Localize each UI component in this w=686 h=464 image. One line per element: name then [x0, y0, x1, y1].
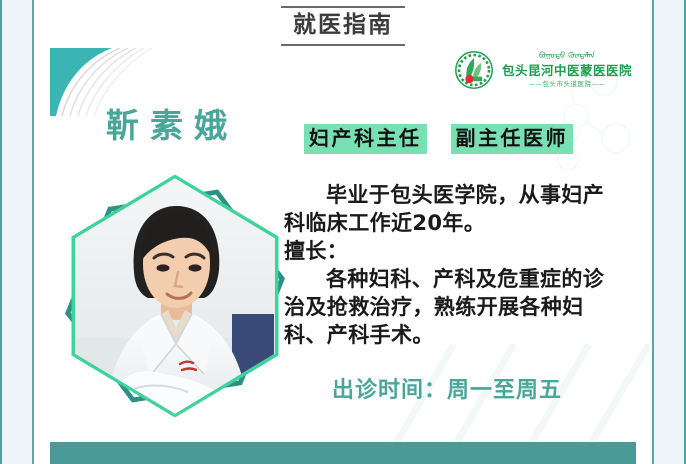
title-badge-department: 妇产科主任 — [304, 124, 427, 154]
bottom-accent-bar — [50, 442, 636, 464]
doctor-profile-card: 就医指南 — [0, 0, 686, 464]
office-hours: 出诊时间：周一至周五 — [332, 372, 562, 404]
bio-paragraph-specialty: 各种妇科、产科及危重症的诊治及抢救治疗，熟练开展各种妇科、产科手术。 — [284, 266, 620, 350]
mongolian-script-text: ᠪᠤᠭᠤᠲᠤ ᠬᠦᠨᠳᠡᠯᠡᠨ — [539, 52, 595, 63]
leaf-circle-emblem-icon — [454, 50, 494, 90]
right-border-gutter — [652, 0, 684, 464]
hexagon-front-outline — [60, 172, 290, 420]
doctor-bio: 毕业于包头医学院，从事妇产科临床工作近20年。 擅长： 各种妇科、产科及危重症的… — [284, 182, 620, 350]
doctor-titles: 妇产科主任 副主任医师 — [304, 124, 573, 154]
bio-label-specialty: 擅长： — [284, 238, 620, 266]
doctor-photo-frame — [60, 172, 290, 420]
hospital-subtitle-text: ——包头市头道医院—— — [529, 78, 606, 88]
title-rule-bottom — [281, 44, 405, 46]
page-title: 就医指南 — [287, 8, 399, 44]
hospital-name-text: 包头昆河中医蒙医医院 — [502, 64, 632, 78]
header: 就医指南 — [2, 6, 684, 46]
hospital-logo: ᠪᠤᠭᠤᠲᠤ ᠬᠦᠨᠳᠡᠯᠡᠨ 包头昆河中医蒙医医院 ——包头市头道医院—— — [454, 50, 632, 90]
doctor-photo — [64, 176, 286, 416]
hospital-logo-text: ᠪᠤᠭᠤᠲᠤ ᠬᠦᠨᠳᠡᠯᠡᠨ 包头昆河中医蒙医医院 ——包头市头道医院—— — [502, 52, 632, 89]
left-border-gutter — [2, 0, 34, 464]
doctor-name: 靳素娥 — [106, 106, 238, 146]
title-badge-rank: 副主任医师 — [451, 124, 574, 154]
bio-paragraph-education: 毕业于包头医学院，从事妇产科临床工作近20年。 — [284, 182, 620, 238]
